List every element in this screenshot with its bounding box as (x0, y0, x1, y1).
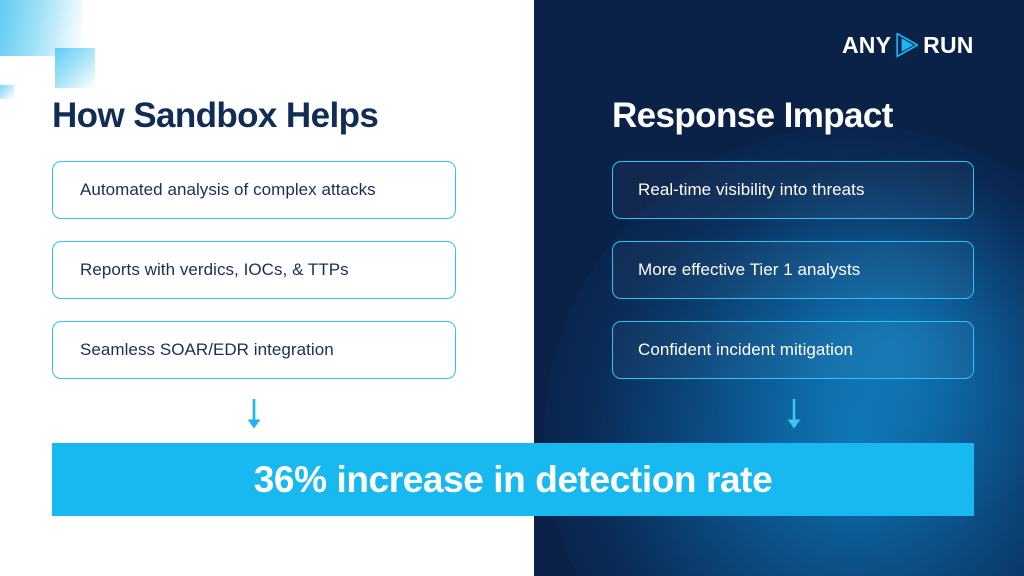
logo-text-run: RUN (923, 34, 973, 57)
card-label: Confident incident mitigation (638, 340, 853, 360)
right-panel-heading: Response Impact (612, 96, 893, 136)
anyrun-logo[interactable]: ANY RUN (842, 30, 974, 60)
infographic-slide: ANY RUN How Sandbox Helps Automated anal… (0, 0, 1024, 576)
left-panel-heading: How Sandbox Helps (52, 96, 378, 136)
logo-text-any: ANY (842, 34, 891, 57)
card-label: Seamless SOAR/EDR integration (80, 340, 334, 360)
card-label: More effective Tier 1 analysts (638, 260, 860, 280)
decorative-square-medium (55, 48, 95, 88)
list-item[interactable]: Automated analysis of complex attacks (52, 161, 456, 219)
list-item[interactable]: Real-time visibility into threats (612, 161, 974, 219)
decorative-square-small (0, 85, 14, 99)
banner-text: 36% increase in detection rate (254, 459, 773, 501)
highlight-banner: 36% increase in detection rate (52, 443, 974, 516)
card-label: Real-time visibility into threats (638, 180, 865, 200)
list-item[interactable]: Confident incident mitigation (612, 321, 974, 379)
list-item[interactable]: Seamless SOAR/EDR integration (52, 321, 456, 379)
arrow-down-icon (781, 398, 807, 430)
list-item[interactable]: More effective Tier 1 analysts (612, 241, 974, 299)
list-item[interactable]: Reports with verdics, IOCs, & TTPs (52, 241, 456, 299)
card-label: Automated analysis of complex attacks (80, 180, 376, 200)
arrow-down-icon (241, 398, 267, 430)
card-label: Reports with verdics, IOCs, & TTPs (80, 260, 349, 280)
play-triangle-icon (891, 30, 923, 60)
